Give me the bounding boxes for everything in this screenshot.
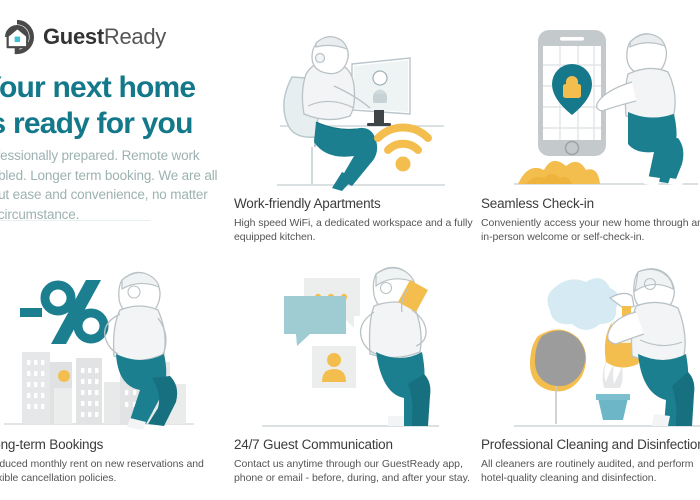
feature-title: 24/7 Guest Communication [234,437,484,453]
feature-body: Contact us anytime through our GuestRead… [234,457,484,485]
feature-title: Seamless Check-in [481,196,700,212]
feature-caption-work-friendly-apartments: Work-friendly Apartments High speed WiFi… [234,196,484,244]
feature-title: Work-friendly Apartments [234,196,484,212]
page-title: Your next home is ready for you [0,70,257,142]
brand-logo[interactable]: GuestReady [0,20,166,54]
feature-body: Conveniently access your new home throug… [481,216,700,244]
feature-caption-seamless-check-in: Seamless Check-in Conveniently access yo… [481,196,700,244]
feature-caption-long-term-bookings: Long-term Bookings Reduced monthly rent … [0,437,236,485]
guestready-house-logo-icon [0,20,34,54]
feature-body: All cleaners are routinely audited, and … [481,457,700,485]
feature-body: Reduced monthly rent on new reservations… [0,457,236,485]
brand-name-bold: Guest [43,24,104,49]
feature-title: Professional Cleaning and Disinfection [481,437,700,453]
feature-title: Long-term Bookings [0,437,236,453]
hero-title-line-2: is ready for you [0,106,257,142]
smartphone-map-pin-with-lock [512,20,700,192]
hero-divider [0,220,150,221]
hero-subtitle: Professionally prepared. Remote work ena… [0,146,220,224]
hero-section: GuestReady Your next home is ready for y… [0,0,240,250]
feature-caption-guest-communication: 24/7 Guest Communication Contact us anyt… [234,437,484,485]
brand-name-light: Ready [104,24,166,49]
landing-page: GuestReady Your next home is ready for y… [0,0,700,500]
chat-bubbles-with-person-on-phone [258,266,443,436]
feature-caption-professional-cleaning: Professional Cleaning and Disinfection A… [481,437,700,485]
person-spraying-disinfectant [512,266,700,436]
brand-wordmark: GuestReady [43,24,166,50]
minus-percent-with-city-skyline [0,266,204,434]
person-at-desk-with-wifi-icon [272,22,450,192]
feature-body: High speed WiFi, a dedicated workspace a… [234,216,484,244]
hero-title-line-1: Your next home [0,71,195,104]
